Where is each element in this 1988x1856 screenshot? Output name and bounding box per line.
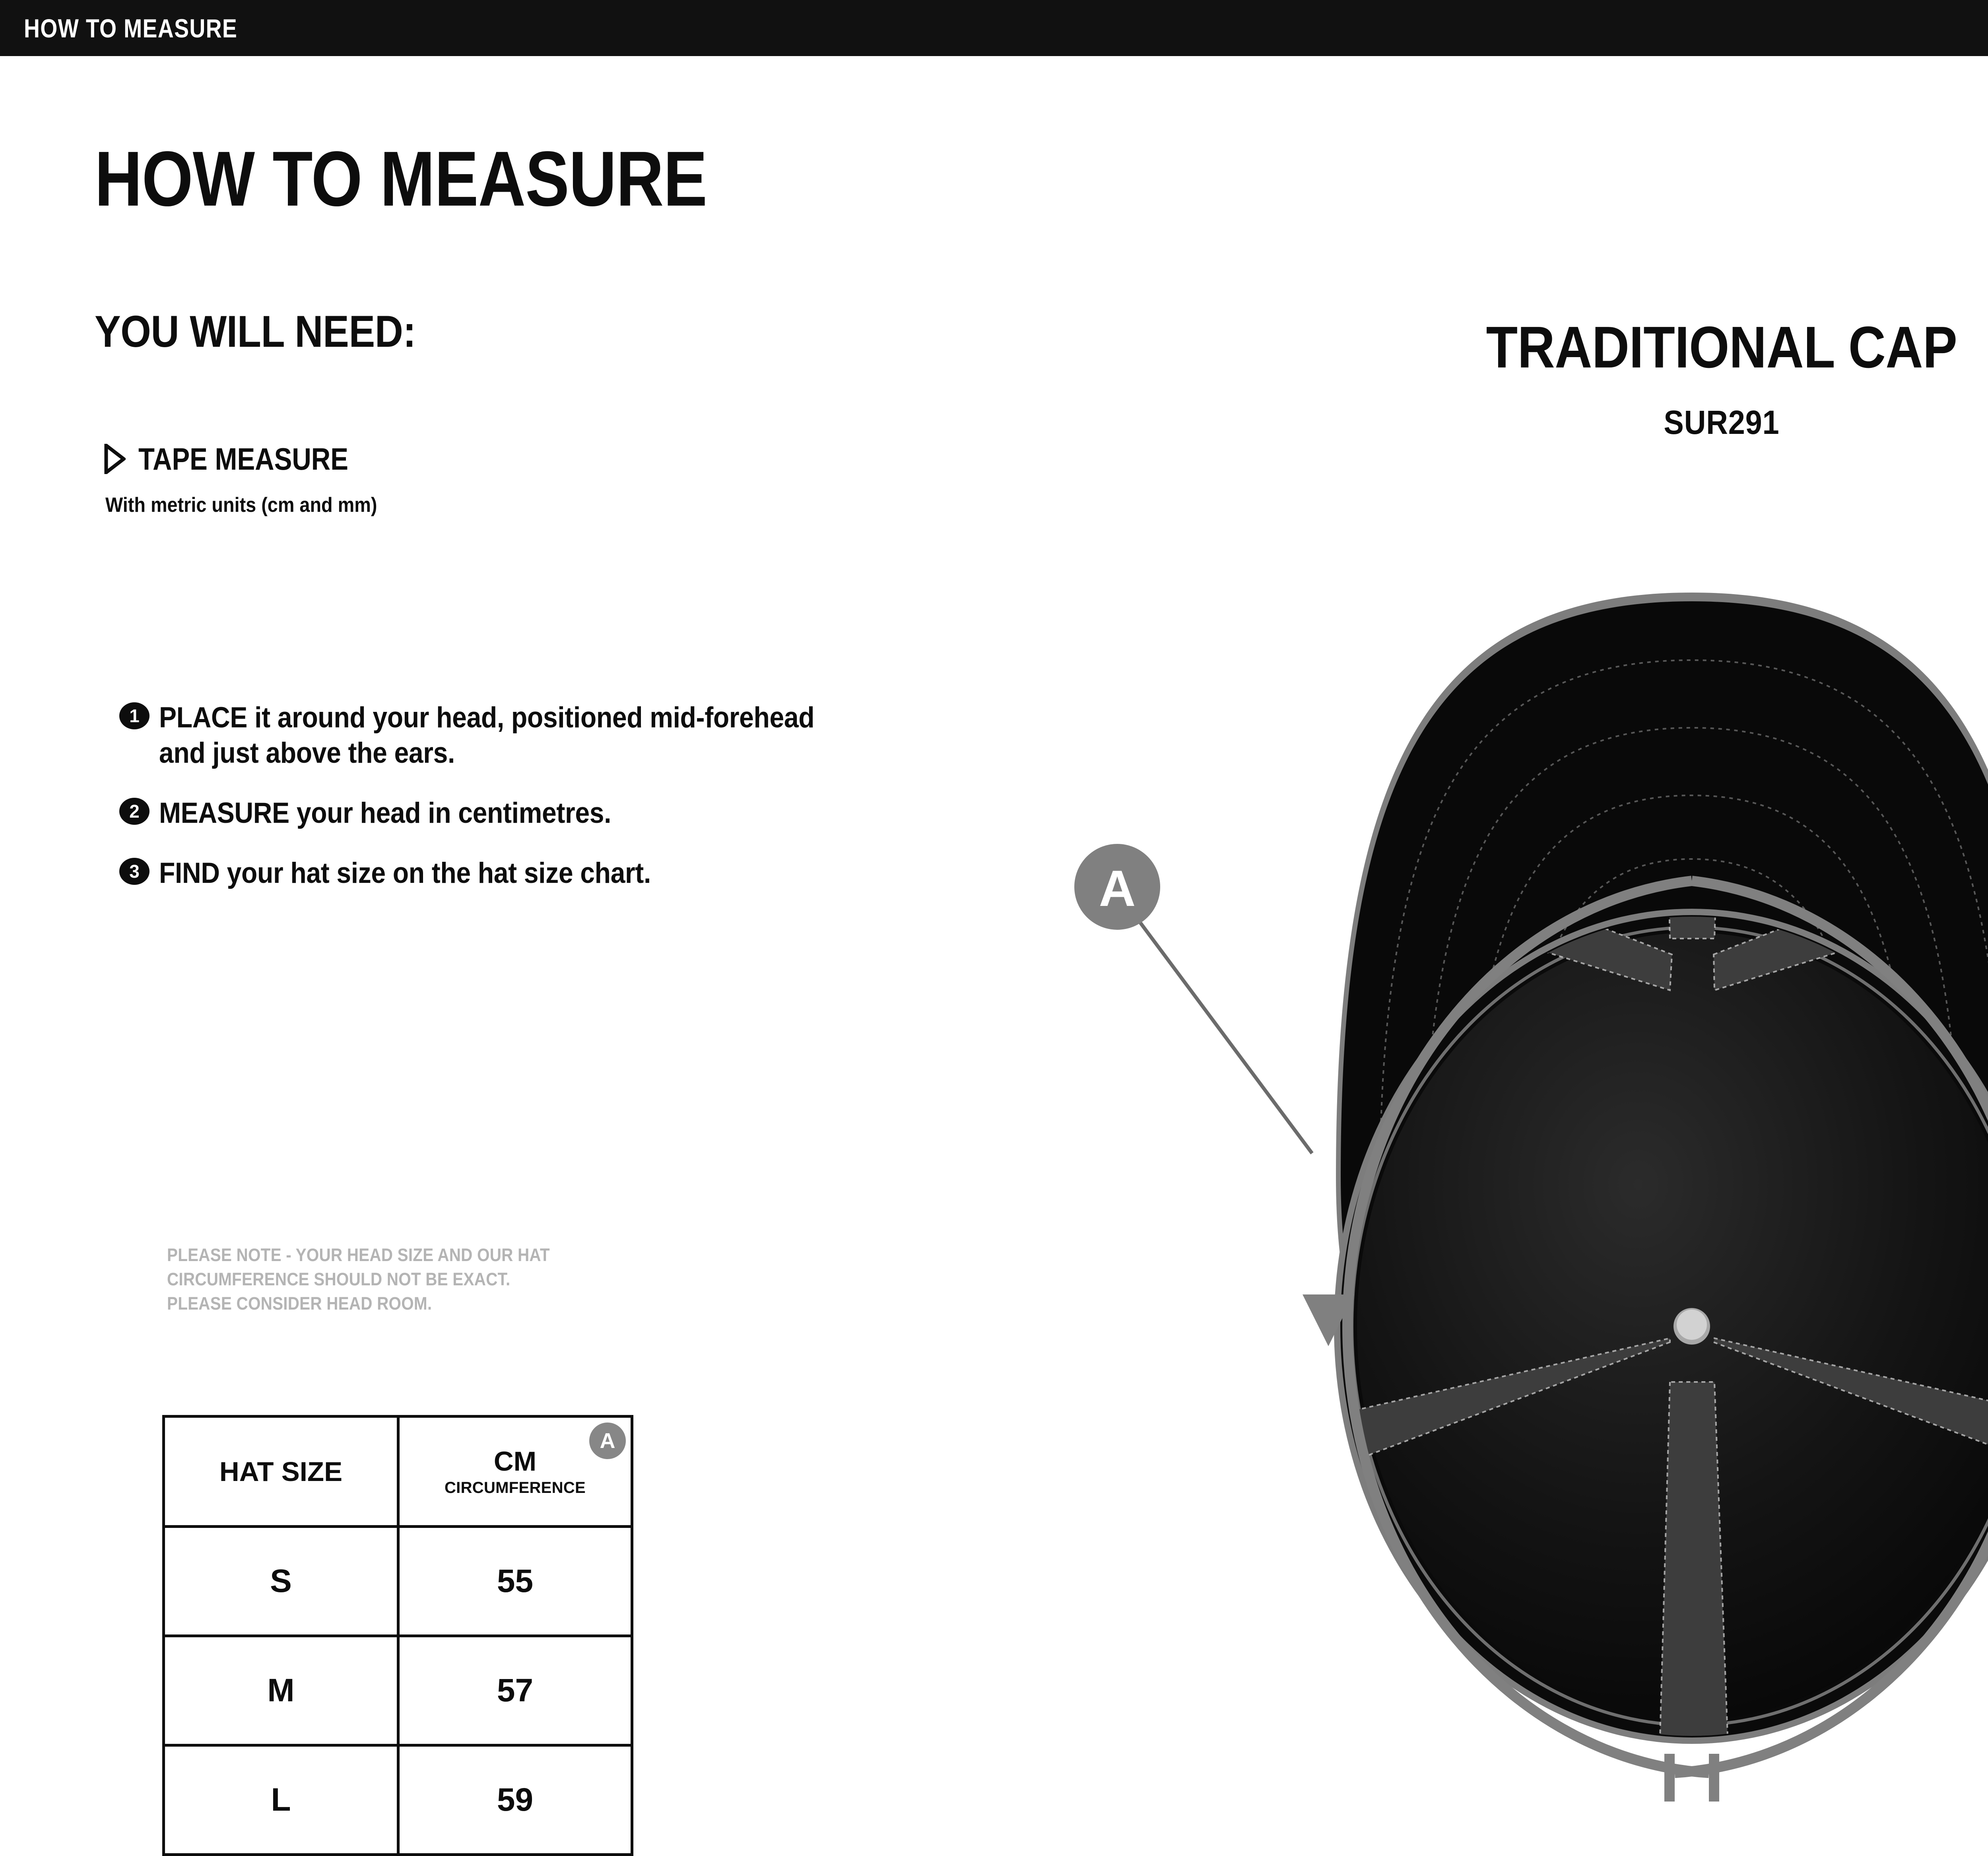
product-code: SUR291 [1289,406,1988,439]
tool-row: TAPE MEASURE [104,443,382,474]
cell-hat-size: S [164,1527,398,1636]
step-number-badge: 3 [119,858,149,885]
step-text: MEASURE your head in centimetres. [159,795,843,831]
step-number-badge: 2 [119,798,149,825]
callout-label: A [1099,860,1136,917]
table-header-hat-size: HAT SIZE [164,1417,398,1527]
table-row: S 55 [164,1527,632,1636]
cell-hat-size: M [164,1636,398,1745]
tool-sublabel: With metric units (cm and mm) [105,495,377,515]
table-row: L 59 [164,1745,632,1855]
cell-cm: 55 [398,1527,632,1636]
header-label-sub: CIRCUMFERENCE [400,1480,631,1496]
steps-list: 1 PLACE it around your head, positioned … [119,700,851,915]
step-text: PLACE it around your head, positioned mi… [159,700,843,771]
cap-center-button [1673,1308,1710,1345]
cell-cm: 57 [398,1636,632,1745]
triangle-right-icon [104,444,126,474]
table-header-row: HAT SIZE CM CIRCUMFERENCE A [164,1417,632,1527]
table-header-cm: CM CIRCUMFERENCE A [398,1417,632,1527]
table-row: M 57 [164,1636,632,1745]
cell-hat-size: L [164,1745,398,1855]
step-item: 3 FIND your hat size on the hat size cha… [119,855,851,891]
step-number-badge: 1 [119,702,149,729]
page-title: HOW TO MEASURE [95,140,707,218]
hat-size-table: HAT SIZE CM CIRCUMFERENCE A S 55 M 57 L … [162,1415,633,1856]
header-label: HAT SIZE [165,1458,397,1485]
product-title: TRADITIONAL CAP [1298,318,1988,377]
please-note-text: PLEASE NOTE - YOUR HEAD SIZE AND OUR HAT… [167,1243,811,1316]
step-item: 2 MEASURE your head in centimetres. [119,795,851,831]
tool-label: TAPE MEASURE [138,443,348,474]
cell-cm: 59 [398,1745,632,1855]
step-text: FIND your hat size on the hat size chart… [159,855,843,891]
cap-diagram: A [1074,557,1988,1853]
step-item: 1 PLACE it around your head, positioned … [119,700,851,771]
top-bar-title: HOW TO MEASURE [24,13,237,43]
top-bar: HOW TO MEASURE SURRIDGE [0,0,1988,56]
measurement-callout-icon: A [1074,844,1312,1153]
measurement-badge-a: A [589,1423,626,1459]
you-will-need-heading: YOU WILL NEED: [95,309,416,354]
